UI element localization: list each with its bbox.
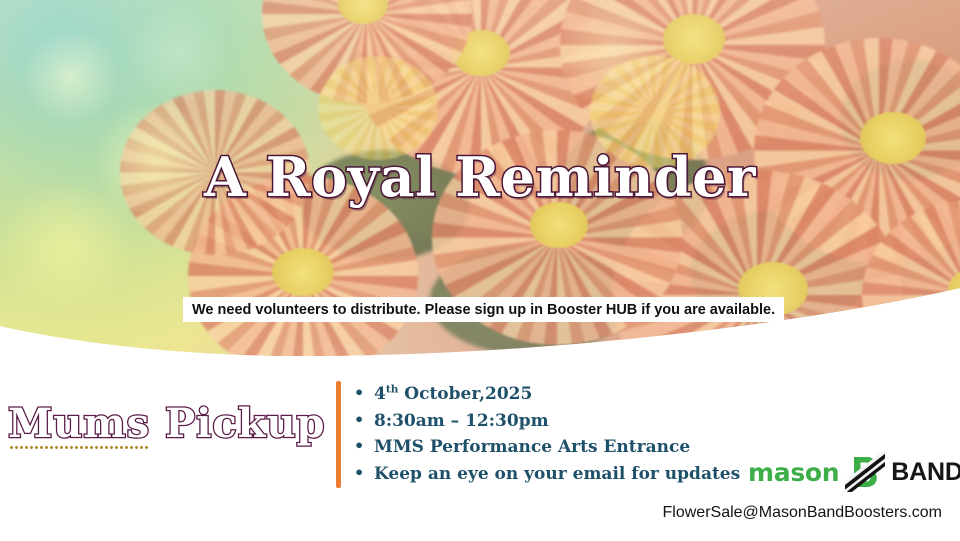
mason-band-b-mark-icon xyxy=(845,452,885,492)
detail-ordinal-suffix: th xyxy=(386,383,399,395)
mason-band-logo: mason BAND xyxy=(748,452,960,492)
poster-canvas: A Royal Reminder We need volunteers to d… xyxy=(0,0,960,541)
detail-text-tail: October,2025 xyxy=(398,384,532,404)
volunteer-banner: We need volunteers to distribute. Please… xyxy=(183,297,784,322)
list-item: 8:30am – 12:30pm xyxy=(352,408,782,435)
list-item: 4th October,2025 xyxy=(352,381,782,408)
logo-band-wordmark: BAND xyxy=(891,460,960,485)
volunteer-banner-text: We need volunteers to distribute. Please… xyxy=(192,302,775,318)
logo-mason-wordmark: mason xyxy=(748,460,839,485)
list-item: MMS Performance Arts Entrance xyxy=(352,434,782,461)
section-heading-dotted-underline xyxy=(9,446,149,449)
detail-text: Keep an eye on your email for updates xyxy=(374,464,740,484)
detail-text: MMS Performance Arts Entrance xyxy=(374,437,690,457)
contact-email: FlowerSale@MasonBandBoosters.com xyxy=(663,504,942,522)
section-heading-mums-pickup: Mums Pickup xyxy=(8,404,326,444)
detail-text: 8:30am – 12:30pm xyxy=(374,411,549,431)
list-item: Keep an eye on your email for updates xyxy=(352,461,782,488)
page-title: A Royal Reminder xyxy=(0,150,960,204)
detail-text: 4 xyxy=(374,384,386,404)
event-details-list: 4th October,2025 8:30am – 12:30pm MMS Pe… xyxy=(352,381,782,487)
orange-accent-bar xyxy=(336,381,341,488)
